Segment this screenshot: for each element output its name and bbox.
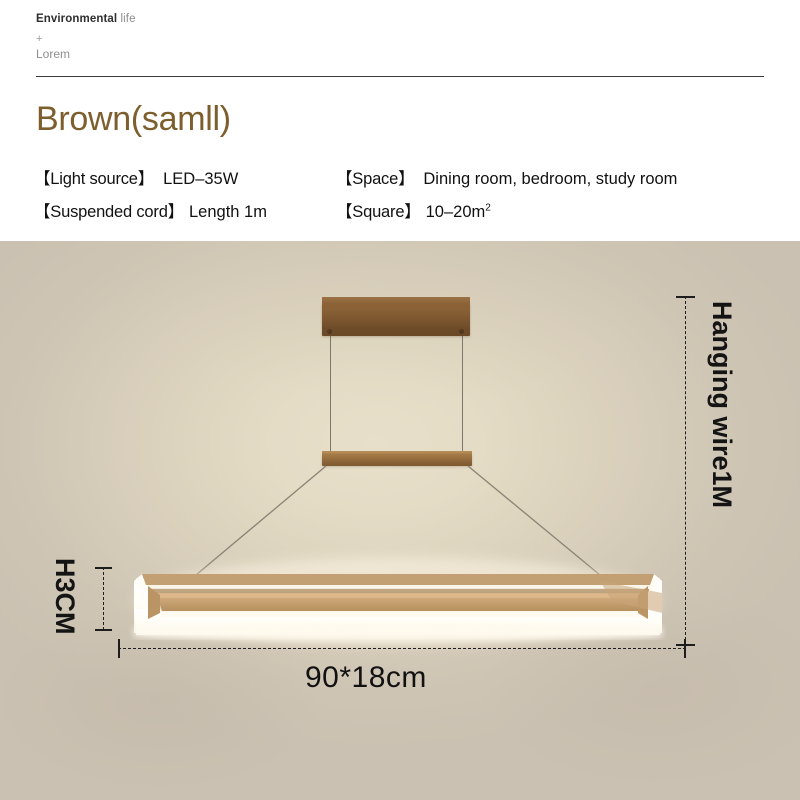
spec-square-key: 【Square】 bbox=[336, 203, 421, 221]
spec-panel: Environmental life + Lorem Brown(samll) … bbox=[0, 0, 800, 241]
spec-light-source-value: LED–35W bbox=[163, 170, 238, 188]
height-dimension-line bbox=[103, 567, 104, 630]
product-detail-page: Environmental life + Lorem Brown(samll) … bbox=[0, 0, 800, 800]
spec-space: 【Space】Dining room, bedroom, study room bbox=[336, 165, 677, 189]
width-dimension-line bbox=[118, 648, 686, 649]
brand-name: Environmental life bbox=[36, 13, 136, 25]
width-label: 90*18cm bbox=[305, 661, 427, 695]
page-title: Brown(samll) bbox=[36, 100, 231, 139]
spec-square-value: 10–20m bbox=[426, 203, 486, 221]
width-dimension-cap-left bbox=[118, 639, 120, 658]
spec-square-superscript: 2 bbox=[485, 203, 491, 214]
brand-subtitle: Lorem bbox=[36, 48, 70, 61]
width-dimension-cap-right bbox=[684, 639, 686, 658]
spec-light-source: 【Light source】LED–35W bbox=[34, 165, 238, 189]
height-label: H3CM bbox=[49, 558, 80, 635]
spec-space-key: 【Space】 bbox=[336, 170, 414, 188]
height-dimension-cap-bottom bbox=[95, 629, 112, 631]
lamp-frame bbox=[0, 241, 800, 800]
header-divider bbox=[36, 76, 764, 77]
brand-name-strong: Environmental bbox=[36, 13, 117, 25]
spec-suspended-cord-key: 【Suspended cord】 bbox=[34, 203, 184, 221]
spec-suspended-cord: 【Suspended cord】Length 1m bbox=[34, 198, 267, 222]
spec-square: 【Square】10–20m2 bbox=[336, 198, 491, 222]
hanging-wire-dimension-cap-top bbox=[676, 296, 695, 298]
hanging-wire-dimension-line bbox=[685, 296, 686, 645]
product-photo: Hanging wire1M H3CM 90*18cm bbox=[0, 241, 800, 800]
spec-suspended-cord-value: Length 1m bbox=[189, 203, 267, 221]
height-dimension-cap-top bbox=[95, 567, 112, 569]
plus-icon: + bbox=[36, 34, 42, 45]
spec-space-value: Dining room, bedroom, study room bbox=[423, 170, 677, 188]
spec-light-source-key: 【Light source】 bbox=[34, 170, 154, 188]
brand-name-light: life bbox=[120, 13, 135, 25]
hanging-wire-label: Hanging wire1M bbox=[706, 301, 737, 508]
